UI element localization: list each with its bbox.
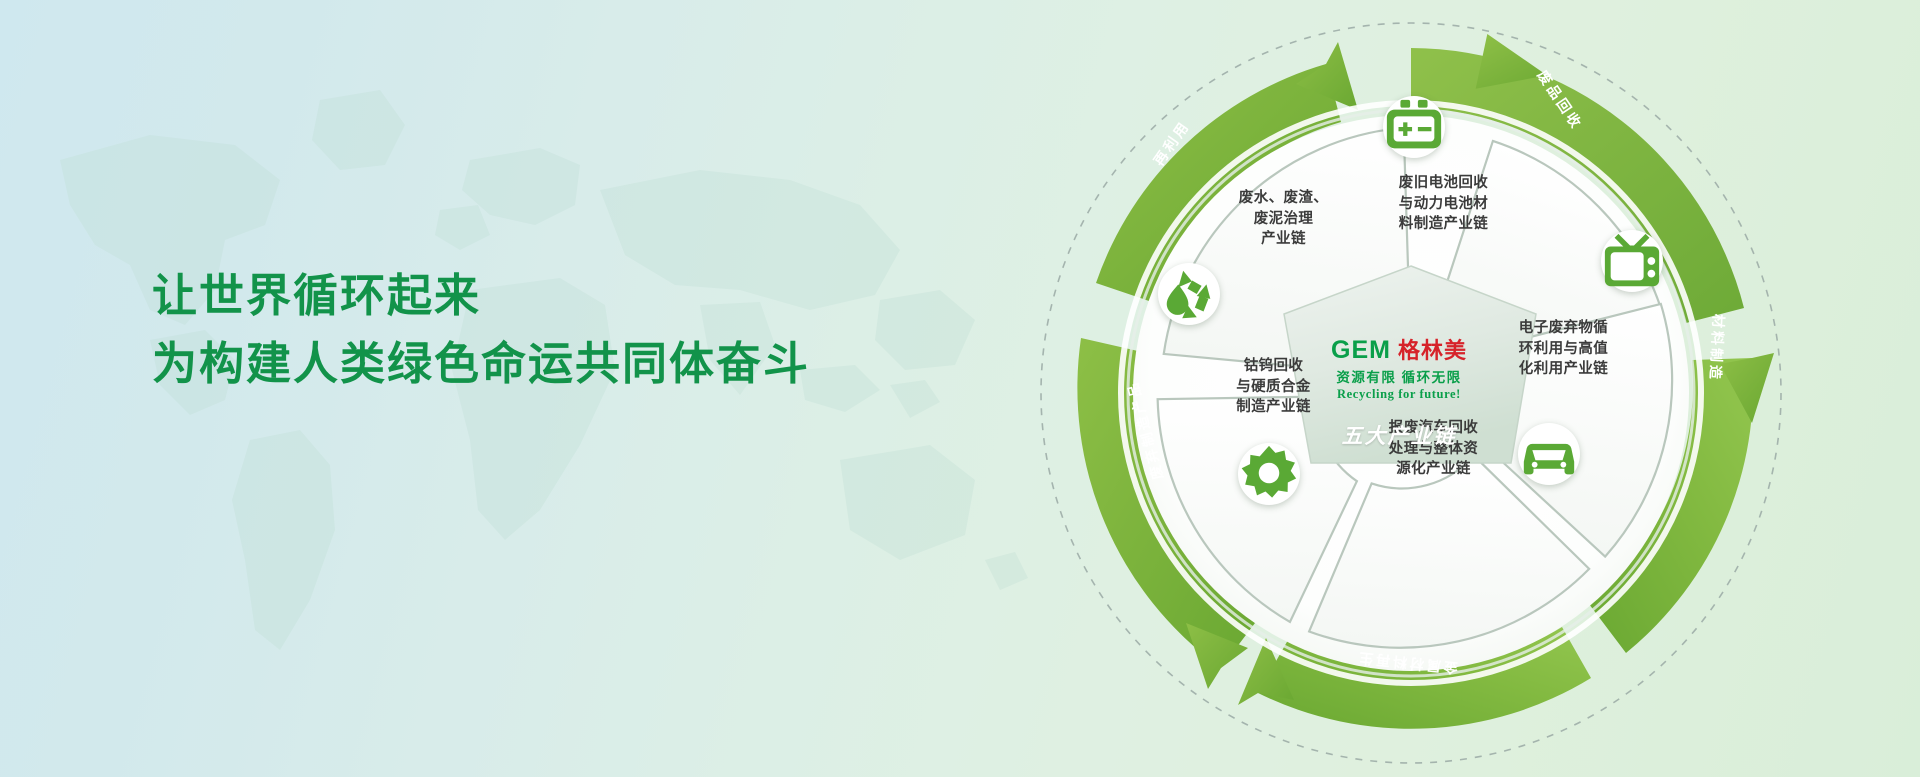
ring-label-material-manufacturing: 材料制造 — [1705, 314, 1729, 383]
battery-icon-bubble — [1383, 96, 1445, 158]
gear-icon-bubble — [1238, 443, 1300, 505]
banner-root: 让世界循环起来 为构建人类绿色命运共同体奋斗 — [0, 0, 1920, 777]
car-icon-bubble — [1518, 423, 1580, 485]
gem-slogan-en: Recycling for future! — [1294, 387, 1504, 402]
headline-line-2: 为构建人类绿色命运共同体奋斗 — [152, 330, 810, 398]
recycle-drop-icon — [1158, 263, 1220, 325]
gem-brand-latin: GEM — [1331, 338, 1391, 363]
gem-brand-cn: 格林美 — [1398, 340, 1467, 362]
circular-industry-diagram: 废旧电池回收 与动力电池材 料制造产业链 电子废弃物循 环利用与高值 化利用产业… — [1026, 8, 1796, 777]
gem-wordmark: GEM 格林美 — [1294, 338, 1504, 363]
center-title: 五大产业链 — [1294, 420, 1504, 450]
gem-slogan-cn: 资源有限 循环无限 — [1294, 366, 1504, 386]
headline: 让世界循环起来 为构建人类绿色命运共同体奋斗 — [152, 262, 810, 399]
gear-icon — [1238, 443, 1300, 505]
segment-label-waste-water: 废水、废渣、 废泥治理 产业链 — [1196, 188, 1371, 250]
recycle-drop-icon-bubble — [1158, 263, 1220, 325]
gem-center-logo: GEM 格林美 资源有限 循环无限 Recycling for future! — [1294, 338, 1504, 402]
car-icon — [1518, 423, 1580, 485]
television-icon-bubble — [1601, 230, 1663, 292]
headline-line-1: 让世界循环起来 — [152, 262, 810, 330]
television-icon — [1601, 230, 1663, 292]
battery-icon — [1383, 96, 1445, 158]
segment-label-battery: 废旧电池回收 与动力电池材 料制造产业链 — [1356, 173, 1531, 235]
